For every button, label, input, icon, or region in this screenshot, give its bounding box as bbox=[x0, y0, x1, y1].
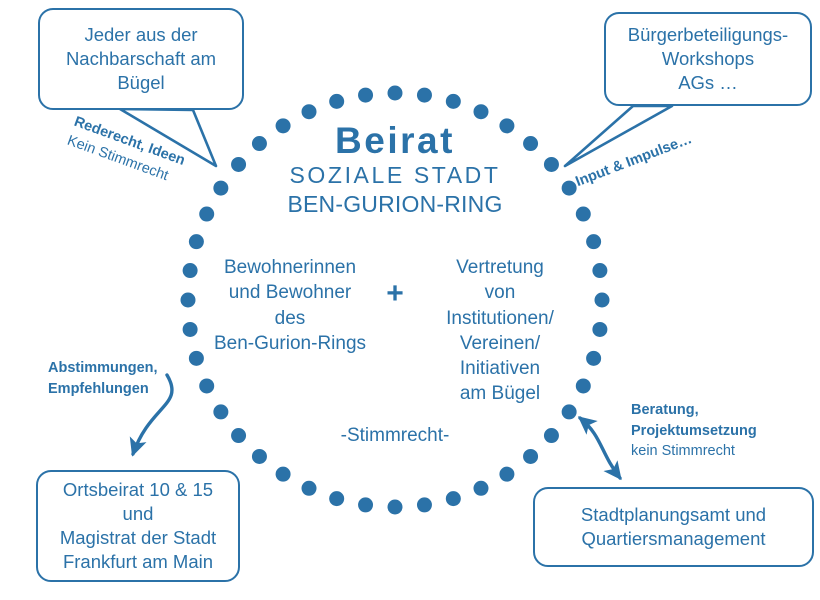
box-ortsbeirat: Ortsbeirat 10 & 15 und Magistrat der Sta… bbox=[36, 470, 240, 582]
bubble-neighbourhood-line: Nachbarschaft am bbox=[66, 48, 216, 69]
bubble-neighbourhood-line: Bügel bbox=[117, 72, 164, 93]
ring-dot bbox=[473, 481, 488, 496]
ring-dot bbox=[276, 118, 291, 133]
ring-dot bbox=[302, 104, 317, 119]
ring-dot bbox=[586, 234, 601, 249]
annotation-abstimmungen-line: Abstimmungen, bbox=[48, 358, 158, 379]
ring-dot bbox=[183, 263, 198, 278]
ring-dot bbox=[562, 404, 577, 419]
box-ortsbeirat-line: Frankfurt am Main bbox=[63, 551, 213, 572]
ring-dot bbox=[213, 181, 228, 196]
ring-dot bbox=[544, 428, 559, 443]
ring-dot bbox=[276, 467, 291, 482]
bubble-participation: Bürgerbeteiligungs- Workshops AGs … bbox=[604, 12, 812, 106]
ring-dot bbox=[388, 500, 403, 515]
ring-dot bbox=[358, 88, 373, 103]
ring-dot bbox=[358, 497, 373, 512]
ring-dot bbox=[446, 491, 461, 506]
ring-dot bbox=[576, 378, 591, 393]
bubble-participation-line: Workshops bbox=[662, 48, 754, 69]
ring-dot bbox=[252, 136, 267, 151]
annotation-beratung-line: Beratung, bbox=[631, 400, 757, 421]
ring-dot bbox=[183, 322, 198, 337]
ring-dot bbox=[592, 322, 607, 337]
ring-dot bbox=[189, 234, 204, 249]
annotation-beratung-line: Projektumsetzung bbox=[631, 421, 757, 442]
bubble-participation-line: AGs … bbox=[678, 72, 738, 93]
ring-dot bbox=[417, 88, 432, 103]
ring-dot bbox=[181, 293, 196, 308]
annotation-abstimmungen-line: Empfehlungen bbox=[48, 379, 158, 400]
annotation-beratung-regular: kein Stimmrecht bbox=[631, 441, 757, 462]
ring-dot bbox=[523, 449, 538, 464]
ring-dot bbox=[499, 118, 514, 133]
box-stadtplanung-line: Stadtplanungsamt und bbox=[581, 504, 766, 525]
ring-dot bbox=[576, 207, 591, 222]
box-ortsbeirat-line: und bbox=[123, 503, 154, 524]
box-ortsbeirat-line: Magistrat der Stadt bbox=[60, 527, 216, 548]
ring-dot bbox=[446, 94, 461, 109]
diagram-canvas: Beirat SOZIALE STADT BEN-GURION-RING Bew… bbox=[0, 0, 820, 600]
ring-dot bbox=[329, 94, 344, 109]
ring-dot bbox=[417, 497, 432, 512]
ring-dots bbox=[181, 86, 610, 515]
ring-dot bbox=[523, 136, 538, 151]
ring-dot bbox=[562, 181, 577, 196]
ring-dot bbox=[231, 428, 246, 443]
ring-dot bbox=[189, 351, 204, 366]
ring-dot bbox=[473, 104, 488, 119]
bubble-neighbourhood-line: Jeder aus der bbox=[84, 24, 197, 45]
bubble-participation-line: Bürgerbeteiligungs- bbox=[628, 24, 788, 45]
ring-dot bbox=[252, 449, 267, 464]
box-stadtplanung-line: Quartiersmanagement bbox=[581, 528, 765, 549]
ring-dot bbox=[329, 491, 344, 506]
ring-dot bbox=[388, 86, 403, 101]
ring-dot bbox=[199, 207, 214, 222]
annotation-abstimmungen: Abstimmungen, Empfehlungen bbox=[48, 358, 158, 399]
ring-dot bbox=[231, 157, 246, 172]
bubble-neighbourhood: Jeder aus der Nachbarschaft am Bügel bbox=[38, 8, 244, 110]
box-stadtplanung: Stadtplanungsamt und Quartiersmanagement bbox=[533, 487, 814, 567]
annotation-beratung: Beratung, Projektumsetzung kein Stimmrec… bbox=[631, 400, 757, 462]
arrow-beratung bbox=[580, 418, 620, 478]
ring-dot bbox=[199, 378, 214, 393]
ring-dot bbox=[499, 467, 514, 482]
box-ortsbeirat-line: Ortsbeirat 10 & 15 bbox=[63, 479, 213, 500]
ring-dot bbox=[302, 481, 317, 496]
ring-dot bbox=[592, 263, 607, 278]
ring-dot bbox=[586, 351, 601, 366]
ring-dot bbox=[544, 157, 559, 172]
ring-dot bbox=[595, 293, 610, 308]
ring-dot bbox=[213, 404, 228, 419]
